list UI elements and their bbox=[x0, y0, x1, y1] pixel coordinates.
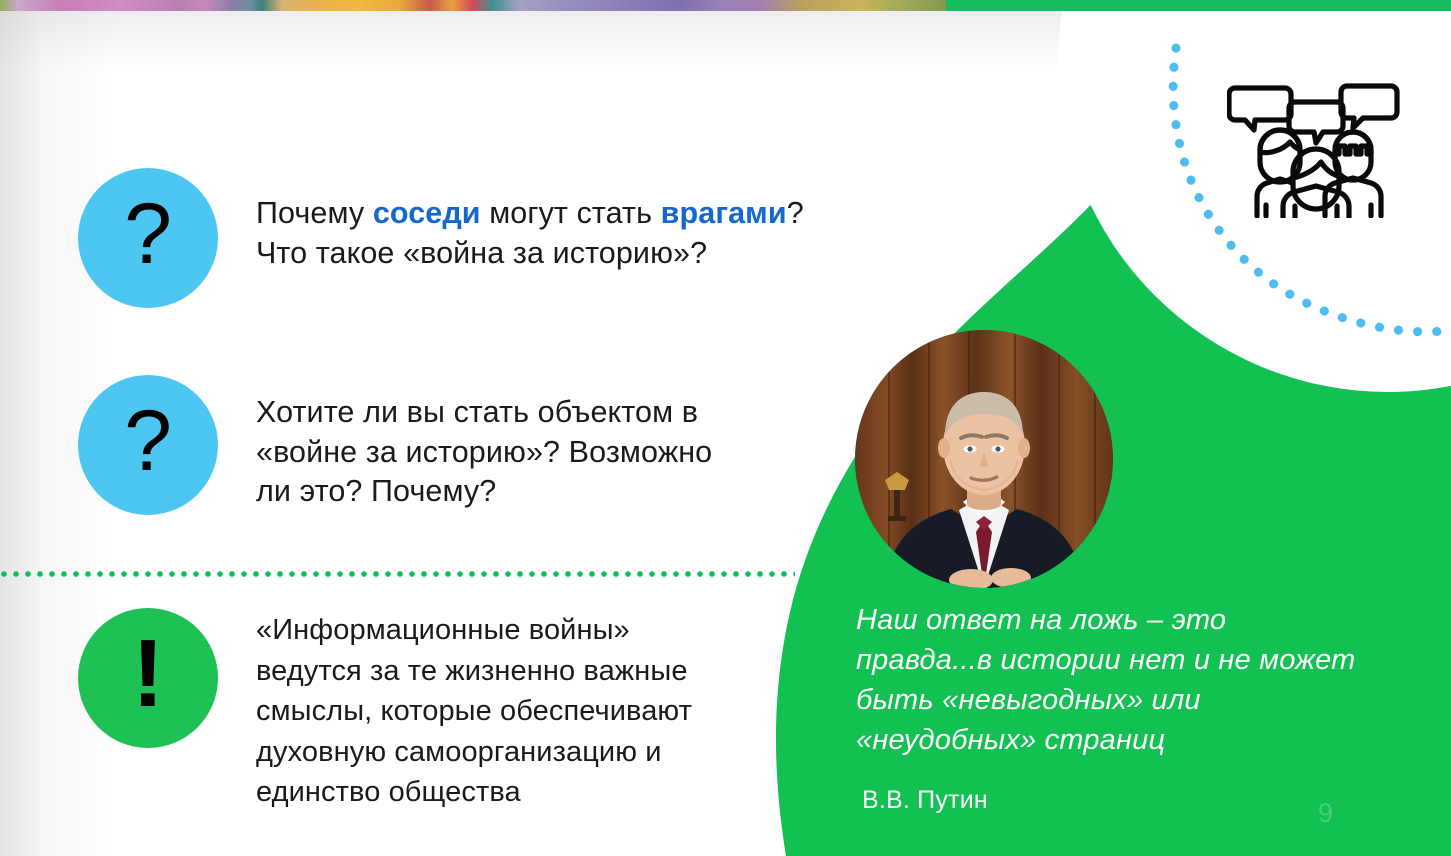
text-segment: Почему bbox=[256, 196, 373, 230]
portrait-photo bbox=[855, 330, 1113, 588]
quote-author: В.В. Путин bbox=[862, 786, 1396, 815]
quote-line: «неудобных» страниц bbox=[856, 720, 1396, 760]
quote-line: Наш ответ на ложь – это bbox=[856, 600, 1396, 640]
question-mark-icon: ? bbox=[124, 191, 172, 277]
quote-line: правда...в истории нет и не может bbox=[856, 640, 1396, 680]
content-line: «Информационные войны» bbox=[256, 610, 692, 651]
content-row-statement: ! «Информационные войны» ведутся за те ж… bbox=[78, 608, 692, 813]
content-rows: ? Почему соседи могут стать врагами? Что… bbox=[0, 0, 830, 856]
people-discussion-icon bbox=[1227, 78, 1405, 218]
content-line: Хотите ли вы стать объектом в bbox=[256, 393, 712, 433]
question-mark-icon: ? bbox=[124, 398, 172, 484]
exclamation-badge: ! bbox=[78, 608, 218, 748]
question-badge-2: ? bbox=[78, 375, 218, 515]
content-line: Что такое «война за историю»? bbox=[256, 234, 804, 274]
content-line: «войне за историю»? Возможно bbox=[256, 433, 712, 473]
question-badge-1: ? bbox=[78, 168, 218, 308]
quote-text: Наш ответ на ложь – это правда...в истор… bbox=[856, 600, 1396, 760]
content-row-question-2: ? Хотите ли вы стать объектом в «войне з… bbox=[78, 375, 712, 515]
exclamation-mark-icon: ! bbox=[132, 626, 164, 722]
slide-number: 9 bbox=[1318, 798, 1333, 829]
adjacent-slide-sliver bbox=[0, 0, 946, 11]
content-row-3-text: «Информационные войны» ведутся за те жиз… bbox=[256, 608, 692, 813]
content-line: духовную самоорганизацию и bbox=[256, 732, 692, 773]
adjacent-slide-sliver-green bbox=[946, 0, 1451, 11]
quote-block: Наш ответ на ложь – это правда...в истор… bbox=[856, 600, 1396, 815]
content-line: Почему соседи могут стать врагами? bbox=[256, 194, 804, 234]
content-row-2-text: Хотите ли вы стать объектом в «войне за … bbox=[256, 375, 712, 512]
text-segment: ? bbox=[787, 196, 804, 230]
content-row-1-text: Почему соседи могут стать врагами? Что т… bbox=[256, 168, 804, 273]
quote-line: быть «невыгодных» или bbox=[856, 680, 1396, 720]
presentation-slide: ? Почему соседи могут стать врагами? Что… bbox=[0, 0, 1451, 856]
content-line: ведутся за те жизненно важные bbox=[256, 651, 692, 692]
highlight-segment-neighbors: соседи bbox=[373, 196, 481, 230]
content-line: ли это? Почему? bbox=[256, 472, 712, 512]
text-segment: могут стать bbox=[481, 196, 661, 230]
highlight-segment-enemies: врагами bbox=[661, 196, 787, 230]
content-line: единство общества bbox=[256, 772, 692, 813]
content-row-question-1: ? Почему соседи могут стать врагами? Что… bbox=[78, 168, 804, 308]
content-line: смыслы, которые обеспечивают bbox=[256, 691, 692, 732]
